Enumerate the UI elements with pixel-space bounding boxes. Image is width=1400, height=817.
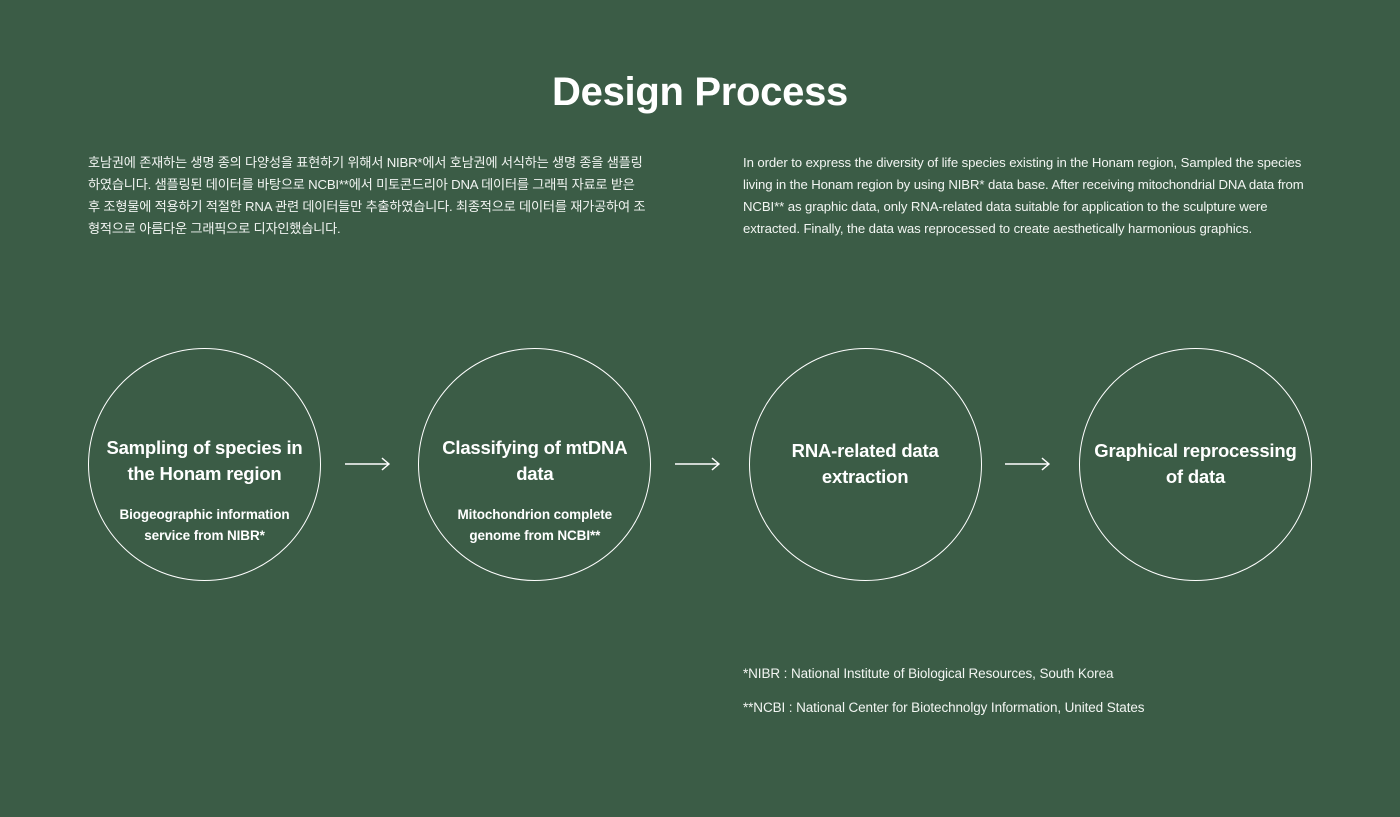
description-english-text: In order to express the diversity of lif… xyxy=(743,152,1313,240)
design-process-slide: Design Process 호남권에 존재하는 생명 종의 다양성을 표현하기… xyxy=(0,0,1400,817)
description-korean: 호남권에 존재하는 생명 종의 다양성을 표현하기 위해서 NIBR*에서 호남… xyxy=(88,152,648,240)
process-step-3-title: RNA-related data extraction xyxy=(764,438,967,490)
page-title: Design Process xyxy=(0,70,1400,115)
arrow-right-icon-1 xyxy=(345,457,395,471)
process-step-2-subtitle: Mitochondrion complete genome from NCBI*… xyxy=(433,504,636,546)
process-step-4-title: Graphical reprocessing of data xyxy=(1094,438,1297,490)
process-step-1-subtitle: Biogeographic information service from N… xyxy=(103,504,306,546)
footnote-ncbi: **NCBI : National Center for Biotechnolg… xyxy=(743,698,1363,718)
footnote-nibr: *NIBR : National Institute of Biological… xyxy=(743,664,1363,684)
process-flow: Sampling of species in the Honam region … xyxy=(88,340,1312,588)
footnotes: *NIBR : National Institute of Biological… xyxy=(743,664,1363,718)
process-step-1-title: Sampling of species in the Honam region xyxy=(103,435,306,487)
arrow-right-icon-3 xyxy=(1005,457,1055,471)
process-step-1: Sampling of species in the Honam region … xyxy=(88,348,321,581)
process-step-3: RNA-related data extraction xyxy=(749,348,982,581)
process-step-4: Graphical reprocessing of data xyxy=(1079,348,1312,581)
description-english: In order to express the diversity of lif… xyxy=(743,152,1313,240)
process-step-2: Classifying of mtDNA data Mitochondrion … xyxy=(418,348,651,581)
process-step-2-title: Classifying of mtDNA data xyxy=(433,435,636,487)
description-korean-text: 호남권에 존재하는 생명 종의 다양성을 표현하기 위해서 NIBR*에서 호남… xyxy=(88,152,648,240)
arrow-right-icon-2 xyxy=(675,457,725,471)
